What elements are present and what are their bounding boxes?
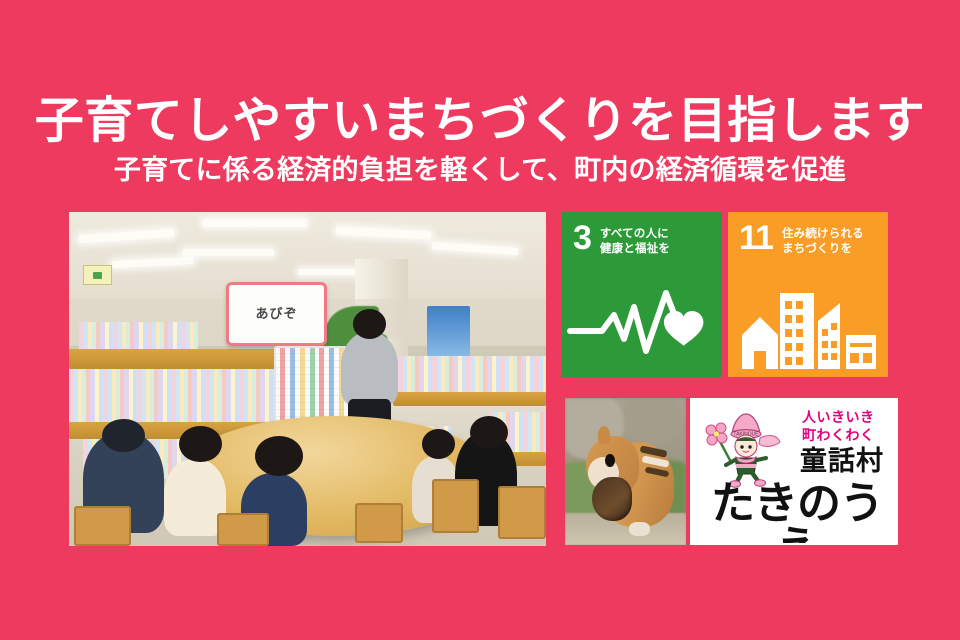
sdg-11-line-2: まちづくりを xyxy=(782,242,864,257)
headline-block: 子育てしやすいまちづくりを目指します 子育てに係る経済的負担を軽くして、町内の経… xyxy=(0,96,960,186)
sdg-11-number: 11 xyxy=(739,225,773,253)
wall-poster xyxy=(427,306,470,356)
chair xyxy=(217,513,269,546)
sdg-11-lines: 住み続けられる まちづくりを xyxy=(782,225,864,257)
books xyxy=(79,322,198,349)
ceiling-light xyxy=(183,249,274,256)
sdg-11-header: 11 住み続けられる まちづくりを xyxy=(728,212,888,257)
chair xyxy=(355,503,403,543)
chipmunk-paw xyxy=(629,522,650,537)
chair xyxy=(74,506,131,546)
sdg-3-line-1: すべての人に xyxy=(600,227,670,242)
ceiling-light xyxy=(203,219,308,227)
town-logo-title: 童話村 xyxy=(800,448,898,475)
books xyxy=(398,356,546,393)
sdg-3-lines: すべての人に 健康と福祉を xyxy=(600,225,670,257)
sdg-badge-11: 11 住み続けられる まちづくりを xyxy=(728,212,888,377)
seated-child-2-head xyxy=(255,436,303,476)
fairy-mascot-icon: TAKINOUE xyxy=(702,408,794,488)
seated-child-1-head xyxy=(179,426,222,463)
town-logo: TAKINOUE xyxy=(690,398,898,545)
picture-books xyxy=(69,369,288,422)
chipmunk-photo xyxy=(565,398,686,545)
library-photo: あびぞ xyxy=(69,212,546,546)
sdg-3-header: 3 すべての人に 健康と福祉を xyxy=(562,212,722,257)
catch-line-1: 人いきいき xyxy=(802,409,896,427)
sdg-3-number: 3 xyxy=(573,225,591,253)
standing-adult-torso xyxy=(341,332,398,405)
room-sign: あびぞ xyxy=(226,282,326,345)
catch-line-2: 町わくわく xyxy=(802,427,896,445)
chipmunk-nut xyxy=(592,477,632,521)
chair xyxy=(498,486,546,539)
sdg-3-line-2: 健康と福祉を xyxy=(600,242,670,257)
shelf xyxy=(393,392,546,405)
seated-adult-right-head xyxy=(470,416,508,449)
page-subtitle: 子育てに係る経済的負担を軽くして、町内の経済循環を促進 xyxy=(0,155,960,186)
chipmunk-eye xyxy=(605,454,615,467)
town-logo-name: たきのうえ xyxy=(700,482,894,545)
chipmunk-ear xyxy=(598,426,610,444)
exit-sign-icon xyxy=(83,265,112,285)
page-title: 子育てしやすいまちづくりを目指します xyxy=(0,96,960,148)
sdg-badge-3: 3 すべての人に 健康と福祉を xyxy=(562,212,722,377)
sdg-11-line-1: 住み続けられる xyxy=(782,227,864,242)
cityscape-buildings-icon xyxy=(728,277,888,369)
standing-adult-head xyxy=(353,309,386,339)
town-logo-catchcopy: 人いきいき 町わくわく xyxy=(802,409,896,444)
town-logo-inner: TAKINOUE xyxy=(692,400,896,543)
room-sign-label: あびぞ xyxy=(255,307,297,321)
heartbeat-heart-icon xyxy=(562,277,722,369)
chair xyxy=(432,479,480,532)
slide-root: 子育てしやすいまちづくりを目指します 子育てに係る経済的負担を軽くして、町内の経… xyxy=(0,0,960,640)
